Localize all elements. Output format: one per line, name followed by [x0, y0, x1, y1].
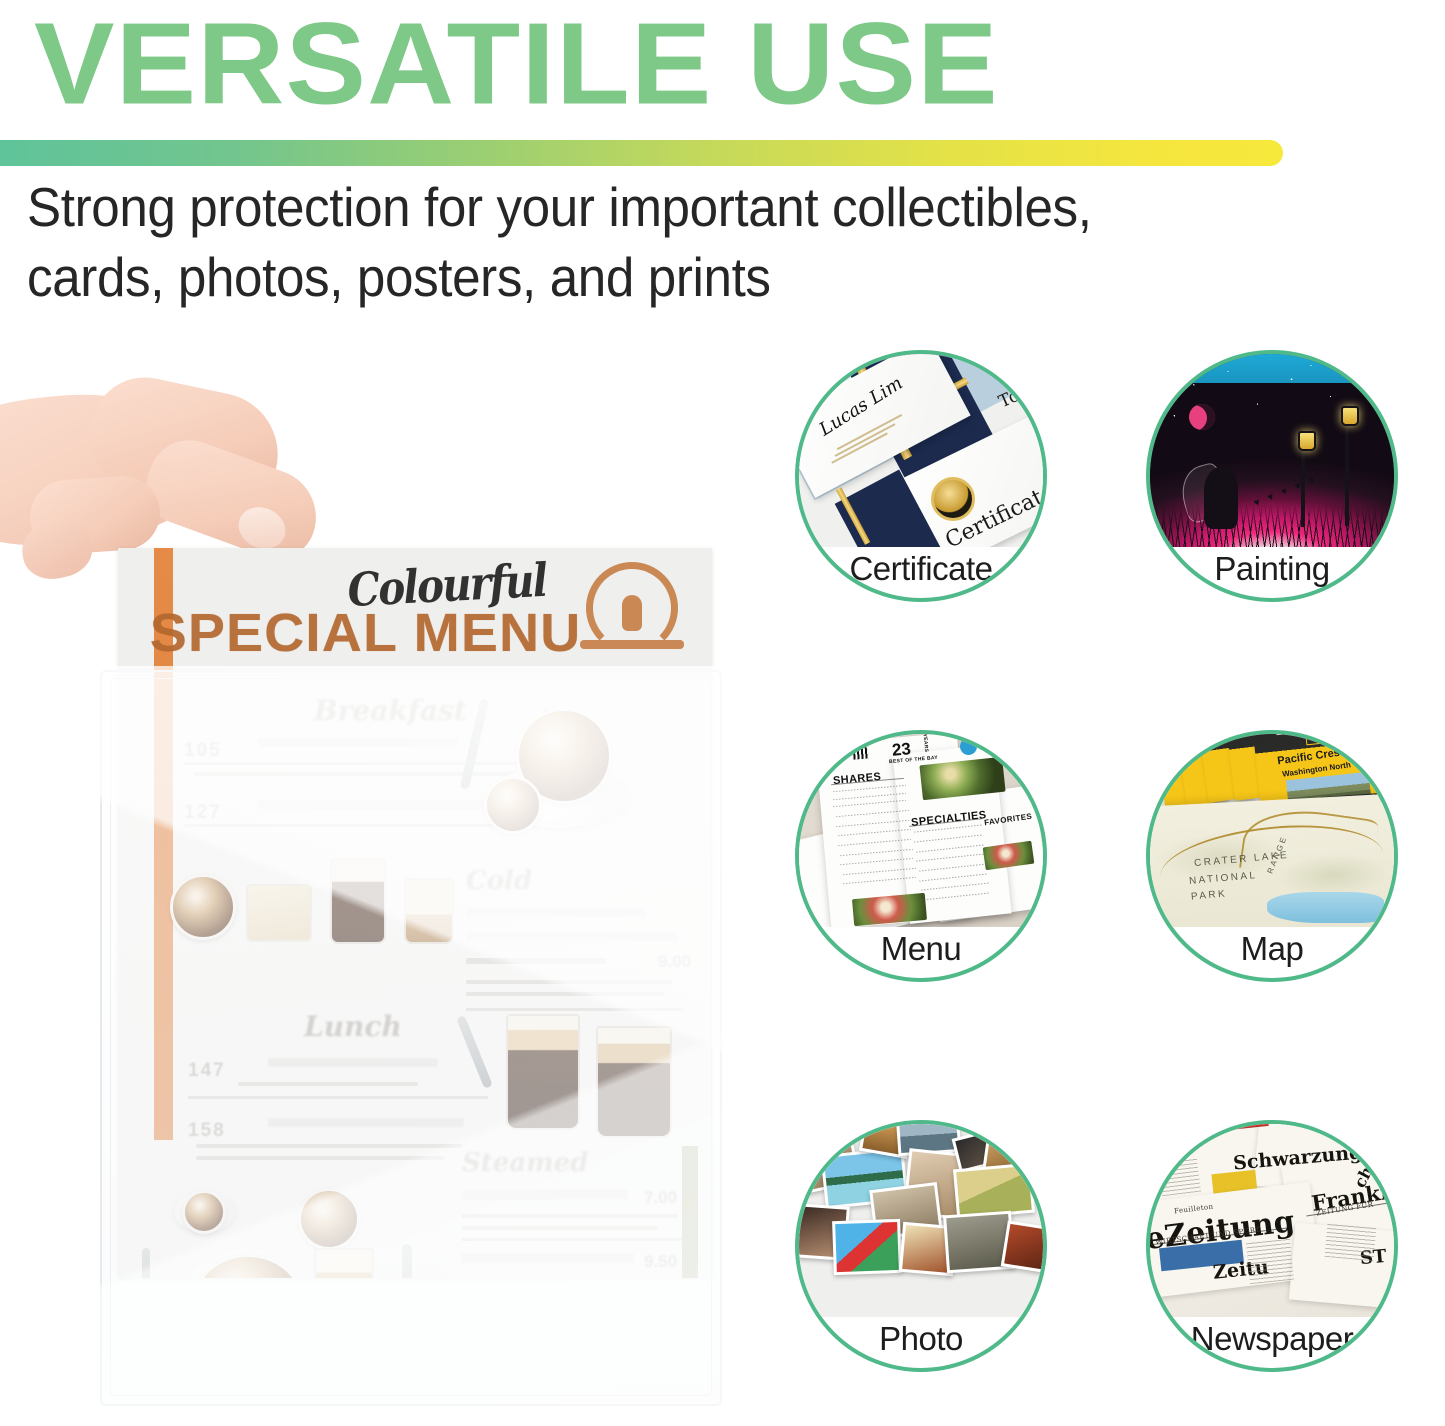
page-title: VERSATILE USE	[34, 0, 999, 133]
certificate-photo: Lucas Lim Certificate Ce To	[799, 354, 1043, 547]
category-label-photo: Photo	[799, 1320, 1043, 1358]
coffee-logo-bar	[580, 640, 684, 649]
painting-photo: ♥ ♥ ♥ ♥ ♥	[1150, 354, 1394, 547]
sleeve-inner-edge	[110, 678, 712, 1396]
award-seal-icon	[931, 477, 975, 521]
category-label-certificate: Certificate	[799, 550, 1043, 588]
lake-shape	[1267, 892, 1384, 923]
category-circle-photo[interactable]: Photo	[795, 1120, 1047, 1372]
grass-silhouette	[1150, 504, 1394, 546]
category-circle-certificate[interactable]: Lucas Lim Certificate Ce To Certificate	[795, 350, 1047, 602]
header: VERSATILE USE Strong protection for your…	[0, 0, 1445, 310]
clear-protective-sleeve	[100, 670, 722, 1406]
category-circle-painting[interactable]: ♥ ♥ ♥ ♥ ♥ Painting	[1146, 350, 1398, 602]
fairy-head	[1209, 481, 1228, 502]
crescent-moon-icon	[1189, 404, 1215, 430]
category-label-menu: Menu	[799, 930, 1043, 968]
category-label-map: Map	[1150, 930, 1394, 968]
subtitle-line-1: Strong protection for your important col…	[27, 172, 1245, 242]
subtitle: Strong protection for your important col…	[27, 172, 1245, 313]
menu-main-title: SPECIAL MENU	[150, 602, 582, 664]
newspaper-photo: eZeitung Frankfurt Schwarzung Zeitu che …	[1150, 1124, 1394, 1317]
category-label-painting: Painting	[1150, 550, 1394, 588]
subtitle-line-2: cards, photos, posters, and prints	[27, 242, 1245, 312]
collage-photo	[832, 1219, 902, 1275]
category-label-newspaper: Newspaper	[1150, 1320, 1394, 1358]
photo-collage	[799, 1124, 1043, 1317]
lamp-head-1	[1298, 431, 1316, 451]
qr-code-icon	[852, 743, 868, 759]
menu-photo: 23 YEARS BEST OF THE BAY SHARES SPECIALT…	[799, 734, 1043, 927]
restaurant-logo-badge	[810, 744, 839, 763]
collage-photo	[1001, 1221, 1043, 1274]
category-circle-menu[interactable]: 23 YEARS BEST OF THE BAY SHARES SPECIALT…	[795, 730, 1047, 982]
map-photo: Pacific Crest Trail Washington North TRA…	[1150, 734, 1394, 927]
category-circle-map[interactable]: Pacific Crest Trail Washington North TRA…	[1146, 730, 1398, 982]
product-photo: Colourful SPECIAL MENU Breakfast 105 127…	[0, 330, 760, 1426]
gradient-divider	[0, 140, 1283, 166]
category-circle-newspaper[interactable]: eZeitung Frankfurt Schwarzung Zeitu che …	[1146, 1120, 1398, 1372]
lamp-head-2	[1341, 406, 1359, 426]
